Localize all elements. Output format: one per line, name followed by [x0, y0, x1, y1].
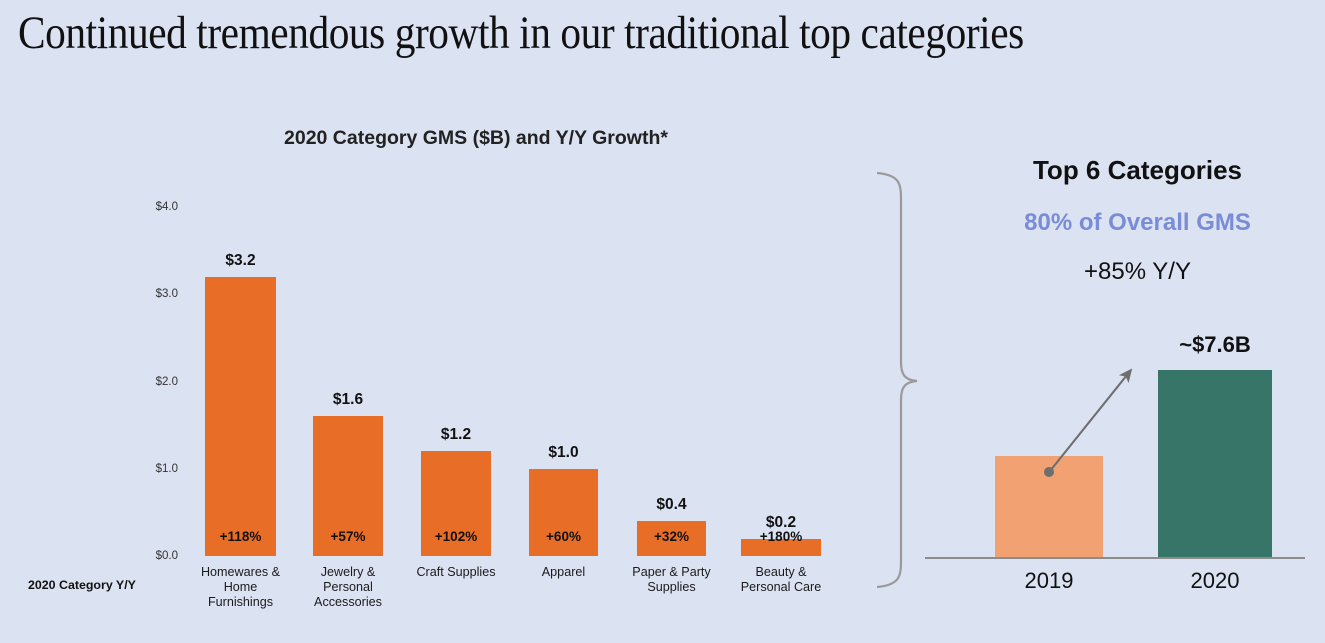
page-title: Continued tremendous growth in our tradi…	[18, 6, 1153, 60]
curly-brace-icon	[855, 170, 925, 590]
y-axis-tick: $0.0	[118, 550, 178, 562]
left-chart-title: 2020 Category GMS ($B) and Y/Y Growth*	[284, 127, 668, 150]
right-panel-share: 80% of Overall GMS	[950, 209, 1325, 237]
y-axis-tick: $3.0	[118, 288, 178, 300]
y-axis-tick: $2.0	[118, 376, 178, 388]
bar-value-label: $1.6	[333, 391, 363, 409]
bar-growth-label: +102%	[435, 529, 477, 544]
right-bar-category-2019: 2019	[969, 568, 1129, 594]
bar-growth-label: +118%	[220, 529, 262, 544]
bar-growth-label: +32%	[654, 529, 689, 544]
bar-value-label: $0.4	[656, 496, 686, 514]
right-panel-growth: +85% Y/Y	[950, 258, 1325, 286]
right-bar-category-2020: 2020	[1135, 568, 1295, 594]
x-axis-category-label: Apparel	[504, 565, 623, 580]
bar-growth-label: +60%	[546, 529, 581, 544]
left-chart-axis-caption: 2020 Category Y/Y	[28, 578, 136, 592]
x-axis-category-label: Jewelry &PersonalAccessories	[288, 565, 408, 610]
y-axis-tick: $1.0	[118, 463, 178, 475]
right-chart-baseline	[925, 557, 1305, 559]
y-axis-tick: $4.0	[118, 201, 178, 213]
x-axis-category-label: Homewares &HomeFurnishings	[180, 565, 301, 610]
x-axis-category-label: Paper & PartySupplies	[612, 565, 731, 595]
x-axis-category-label: Beauty &Personal Care	[716, 565, 846, 595]
x-axis-category-label: Craft Supplies	[396, 565, 516, 580]
slide-canvas: Continued tremendous growth in our tradi…	[0, 0, 1325, 643]
bar-1	[205, 277, 276, 556]
right-panel-heading: Top 6 Categories	[950, 155, 1325, 186]
bar-value-label: $1.0	[548, 444, 578, 462]
bar-growth-label: +180%	[760, 529, 802, 544]
left-chart-y-axis: $0.0$1.0$2.0$3.0$4.0	[118, 0, 178, 643]
bar-value-label: $1.2	[441, 426, 471, 444]
growth-arrow-icon	[1035, 350, 1195, 490]
bar-growth-label: +57%	[331, 529, 366, 544]
bar-value-label: $3.2	[225, 252, 255, 270]
